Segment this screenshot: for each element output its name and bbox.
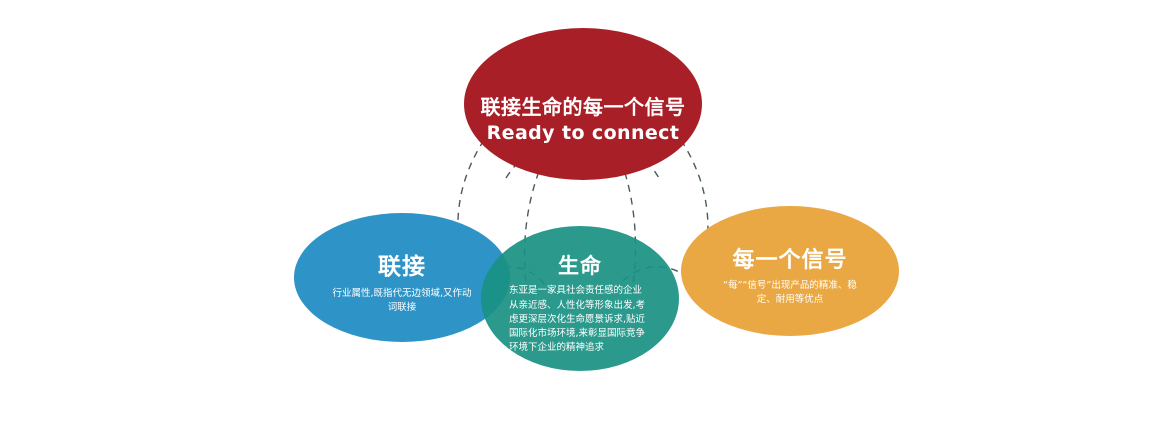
bubble-signal-description: “每”“信号”出现产品的精准、稳定、耐用等优点 <box>715 279 865 307</box>
bubble-life[interactable]: 生命 东亚是一家具社会责任感的企业从亲近感、人性化等形象出发,考虑更深层次化生命… <box>481 226 679 371</box>
bubble-signal-title: 每一个信号 <box>732 249 847 273</box>
bubble-connect-title: 联接 <box>378 255 426 280</box>
bubble-life-description: 东亚是一家具社会责任感的企业从亲近感、人性化等形象出发,考虑更深层次化生命愿景诉… <box>509 284 651 355</box>
bubble-connect-description: 行业属性,既指代无边领域,又作动词联接 <box>329 287 475 315</box>
main-slogan-chinese: 联接生命的每一个信号 <box>481 96 686 119</box>
diagram-canvas: 联接 行业属性,既指代无边领域,又作动词联接 每一个信号 “每”“信号”出现产品… <box>0 0 1162 433</box>
bubble-signal[interactable]: 每一个信号 “每”“信号”出现产品的精准、稳定、耐用等优点 <box>681 206 899 336</box>
bubble-life-title: 生命 <box>558 255 602 278</box>
bubble-connect[interactable]: 联接 行业属性,既指代无边领域,又作动词联接 <box>294 213 510 342</box>
main-slogan-english: Ready to connect <box>487 121 680 146</box>
bubble-main-slogan[interactable]: 联接生命的每一个信号 Ready to connect <box>464 28 702 180</box>
